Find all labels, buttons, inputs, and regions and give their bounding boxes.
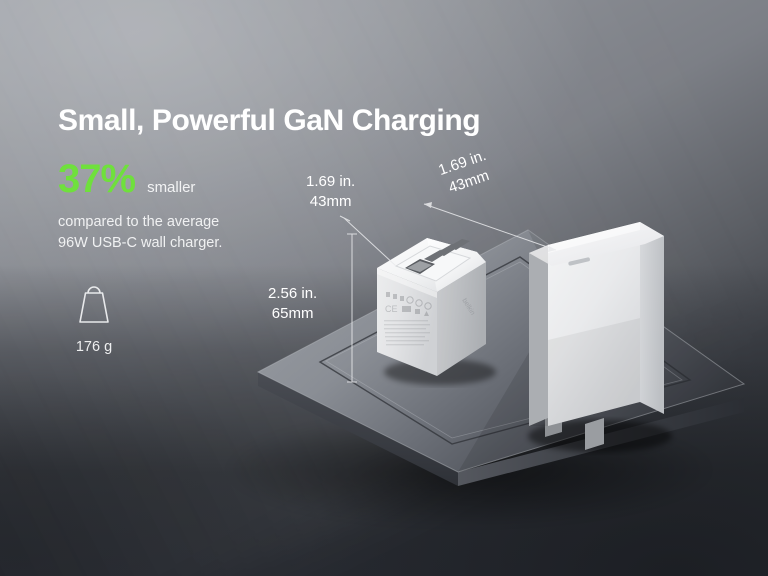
dimension-width-left-metric: 43mm	[306, 192, 355, 212]
stat-description-line-2: 96W USB-C wall charger.	[58, 233, 358, 254]
weight-icon	[72, 278, 116, 328]
stat-value: 37%	[58, 159, 135, 199]
svg-text:CE: CE	[385, 304, 398, 314]
dimension-height-left: 2.56 in. 65mm	[268, 284, 317, 324]
stat-qualifier: smaller	[147, 180, 195, 195]
stat-description-line-1: compared to the average	[58, 212, 358, 233]
page-title: Small, Powerful GaN Charging	[58, 104, 358, 137]
dimension-height-left-inches: 2.56 in.	[268, 284, 317, 304]
dimension-width-left: 1.69 in. 43mm	[306, 172, 355, 212]
weight-label: 176 g	[72, 339, 116, 355]
weight-block: 176 g	[72, 278, 116, 355]
product-hero-image: CE belkin	[0, 0, 768, 576]
dimension-height-left-metric: 65mm	[268, 304, 317, 324]
stat-description: compared to the average 96W USB-C wall c…	[58, 212, 358, 254]
dimension-width-left-inches: 1.69 in.	[306, 172, 355, 192]
